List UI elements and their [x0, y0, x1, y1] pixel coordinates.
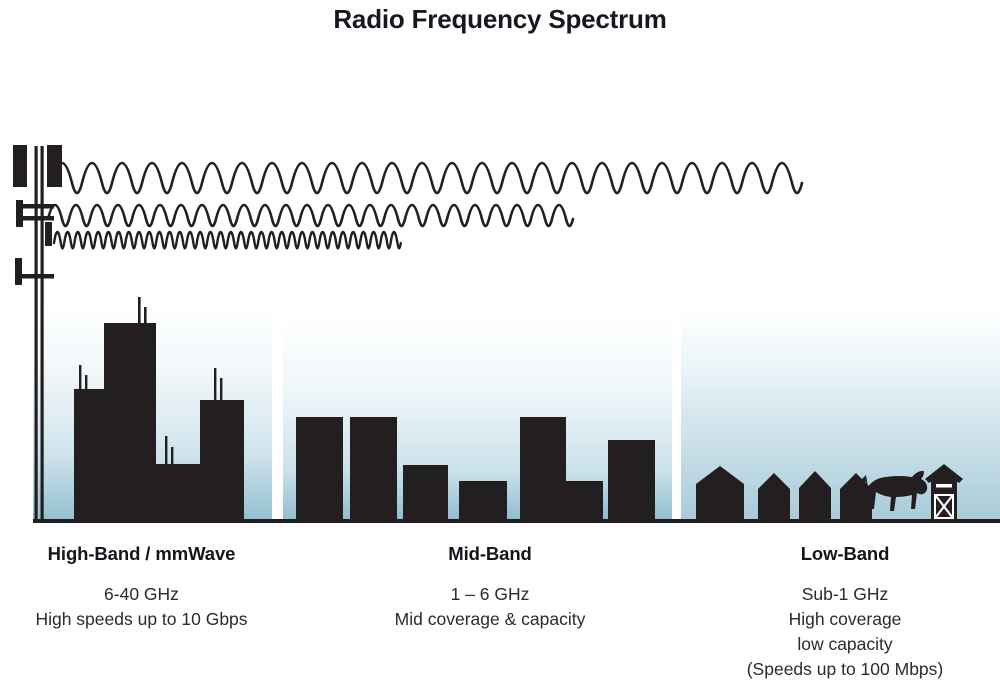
- building: [296, 417, 343, 521]
- band-description-mid-band: 1 – 6 GHz Mid coverage & capacity: [345, 582, 635, 632]
- band-frequency-high-band: 6-40 GHz: [0, 582, 283, 607]
- tower-mast-right: [41, 146, 44, 521]
- band-name-low-band: Low-Band: [690, 543, 1000, 565]
- wave-low-band: [52, 163, 802, 193]
- tower-mast-left: [35, 146, 38, 521]
- ground-line: [33, 519, 1000, 523]
- tower-antenna-panel-1: [13, 145, 27, 187]
- band-caption-high-band: High-Band / mmWave 6-40 GHz High speeds …: [0, 543, 283, 632]
- building-spire: [214, 368, 216, 400]
- infographic-page: Radio Frequency Spectrum: [0, 0, 1000, 700]
- band-detail-mid-band-0: Mid coverage & capacity: [345, 607, 635, 632]
- band-detail-low-band-2: (Speeds up to 100 Mbps): [690, 657, 1000, 682]
- building: [156, 464, 204, 521]
- tower-antenna-panel-4: [45, 222, 52, 246]
- band-frequency-mid-band: 1 – 6 GHz: [345, 582, 635, 607]
- building-spire: [171, 447, 173, 464]
- band-detail-low-band-1: low capacity: [690, 632, 1000, 657]
- wave-mid-band: [48, 205, 573, 226]
- band-name-high-band: High-Band / mmWave: [0, 543, 283, 565]
- building: [566, 481, 603, 521]
- band-name-mid-band: Mid-Band: [345, 543, 635, 565]
- building: [74, 389, 104, 521]
- building: [459, 481, 507, 521]
- band-caption-mid-band: Mid-Band 1 – 6 GHz Mid coverage & capaci…: [345, 543, 635, 632]
- tower-antenna-panel-5: [15, 258, 22, 285]
- building: [608, 440, 655, 521]
- band-detail-low-band-0: High coverage: [690, 607, 1000, 632]
- building: [104, 323, 156, 521]
- wave-high-band: [54, 232, 401, 249]
- tower-antenna-panel-3: [16, 200, 23, 227]
- building-spire: [220, 378, 222, 400]
- band-description-low-band: Sub-1 GHz High coverage low capacity (Sp…: [690, 582, 1000, 682]
- band-captions: High-Band / mmWave 6-40 GHz High speeds …: [0, 543, 1000, 700]
- radio-waves: [48, 163, 802, 249]
- building: [350, 417, 397, 521]
- building: [520, 417, 566, 521]
- band-detail-high-band-0: High speeds up to 10 Gbps: [0, 607, 283, 632]
- building-spire: [165, 436, 167, 464]
- building: [403, 465, 448, 521]
- band-caption-low-band: Low-Band Sub-1 GHz High coverage low cap…: [690, 543, 1000, 682]
- band-description-high-band: 6-40 GHz High speeds up to 10 Gbps: [0, 582, 283, 632]
- building: [200, 400, 244, 521]
- tower-antenna-panel-2: [47, 145, 62, 187]
- band-frequency-low-band: Sub-1 GHz: [690, 582, 1000, 607]
